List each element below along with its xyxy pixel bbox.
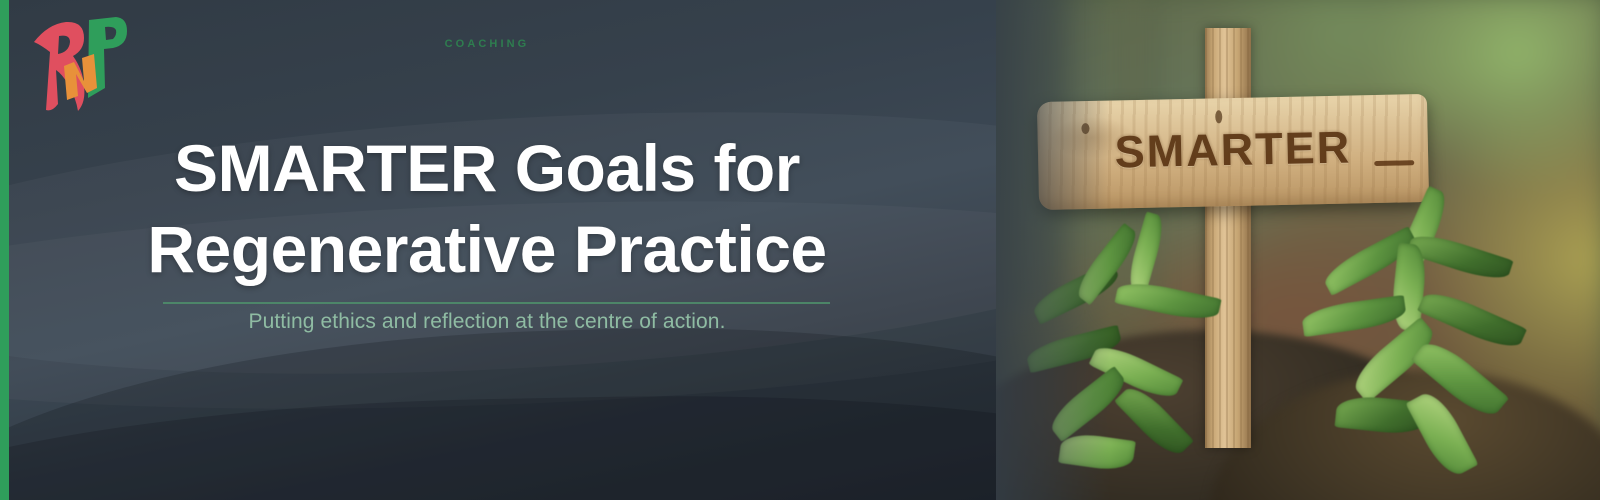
wood-knot [1215, 110, 1222, 123]
page-subtitle: Putting ethics and reflection at the cen… [0, 310, 974, 334]
title-divider [163, 302, 830, 304]
leaf [1114, 277, 1221, 324]
decorative-wave [0, 311, 996, 500]
rnp-logo[interactable] [26, 12, 130, 116]
page-title: SMARTER Goals for Regenerative Practice [0, 128, 974, 289]
hero-banner: SMARTER [0, 0, 1600, 500]
hero-photo: SMARTER [960, 0, 1600, 500]
page-title-line-1: SMARTER Goals for [174, 131, 800, 205]
signpost-dash-mark [1374, 160, 1414, 166]
eyebrow-label: COACHING [0, 38, 974, 50]
plant-cluster-right [1290, 210, 1540, 500]
logo-letter-r [34, 22, 84, 111]
leaf [1301, 295, 1408, 337]
page-title-line-2: Regenerative Practice [0, 209, 974, 290]
hero-text-panel: COACHING SMARTER Goals for Regenerative … [0, 0, 996, 500]
decorative-wave [0, 384, 996, 500]
